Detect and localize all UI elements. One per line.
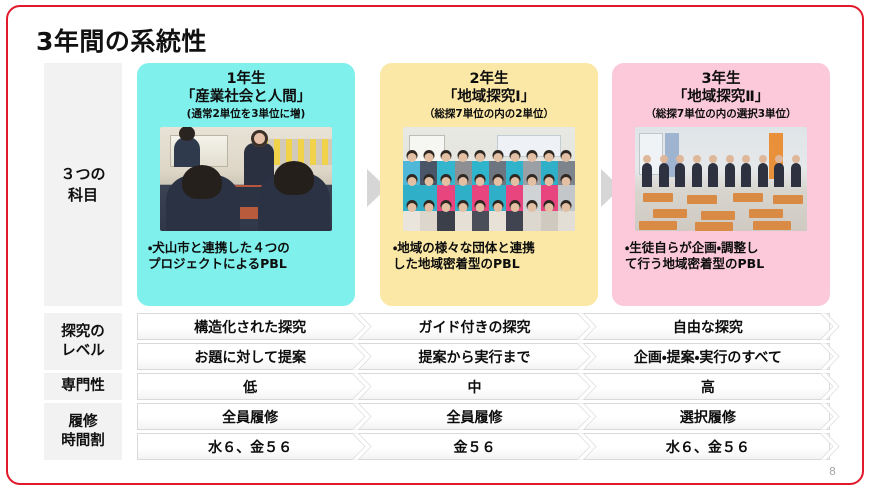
subject-panel-grade3[interactable]: 3年生 「地域探究Ⅱ」 （総探7単位の内の選択3単位） bbox=[612, 63, 830, 306]
page-number: 8 bbox=[829, 465, 836, 478]
panel-description-line2: プロジェクトによるPBL bbox=[148, 256, 345, 273]
panel-description-grade1: ・犬山市と連携した４つの プロジェクトによるPBL bbox=[137, 231, 355, 274]
panel-description-line2: した地域密着型のPBL bbox=[393, 256, 588, 273]
chevron-cell-grade3[interactable]: 選択履修 bbox=[587, 404, 829, 429]
row-label-subjects-line2: 科目 bbox=[60, 185, 105, 205]
table-row-schedule: 履修 時間割 全員履修 全員履修 選択履修 水６、金５６ 金５６ 水６、金５６ bbox=[44, 403, 830, 460]
panel-header-grade3: 3年生 「地域探究Ⅱ」 （総探7単位の内の選択3単位） bbox=[612, 63, 830, 122]
row-label-specialty-text: 専門性 bbox=[61, 377, 105, 396]
panel-course-label: 「産業社会と人間」 bbox=[137, 88, 355, 107]
row-label-subjects: ３つの 科目 bbox=[44, 63, 122, 306]
panel-credits-label: (通常2単位を3単位に増) bbox=[137, 108, 355, 122]
panel-description-line2: て行う地域密着型のPBL bbox=[625, 256, 820, 273]
chevron-cell-grade2[interactable]: ガイド付きの探究 bbox=[362, 314, 586, 339]
row-label-subjects-line1: ３つの bbox=[60, 164, 105, 184]
chevron-cell-grade3[interactable]: 自由な探究 bbox=[587, 314, 829, 339]
panel-description-line1: ・生徒自らが企画・調整し bbox=[625, 240, 820, 257]
chevron-divider-icon bbox=[820, 313, 840, 340]
page-title: 3年間の系統性 bbox=[36, 22, 207, 58]
chevron-divider-icon bbox=[820, 403, 840, 430]
chevron-divider-icon bbox=[820, 373, 840, 400]
panel-grade-label: 2年生 bbox=[380, 70, 598, 88]
panel-description-line1: ・地域の様々な団体と連携 bbox=[393, 240, 588, 257]
chevron-cell-grade2[interactable]: 提案から実行まで bbox=[362, 344, 586, 369]
panel-photo-grade2 bbox=[403, 127, 575, 231]
panel-course-label: 「地域探究Ⅰ」 bbox=[380, 88, 598, 107]
chevron-cell-grade1[interactable]: 全員履修 bbox=[138, 404, 362, 429]
panel-photo-grade3 bbox=[635, 127, 807, 231]
row-label-inquiry-level: 探究の レベル bbox=[44, 313, 122, 370]
row-label-specialty: 専門性 bbox=[44, 373, 122, 400]
panel-header-grade2: 2年生 「地域探究Ⅰ」 （総探7単位の内の2単位） bbox=[380, 63, 598, 122]
chevron-divider-icon bbox=[820, 343, 840, 370]
row-label-schedule-line1: 履修 bbox=[61, 413, 105, 432]
table-row-specialty: 専門性 低 中 高 bbox=[44, 373, 830, 400]
chevron-cell-grade1[interactable]: お題に対して提案 bbox=[138, 344, 362, 369]
chevron-cell-grade2[interactable]: 全員履修 bbox=[362, 404, 586, 429]
row-label-schedule-line2: 時間割 bbox=[61, 432, 105, 451]
chevron-line: 構造化された探究 ガイド付きの探究 自由な探究 bbox=[137, 313, 830, 340]
row-label-schedule: 履修 時間割 bbox=[44, 403, 122, 460]
subject-panel-grade2[interactable]: 2年生 「地域探究Ⅰ」 （総探7単位の内の2単位） bbox=[380, 63, 598, 306]
chevron-cell-grade2[interactable]: 中 bbox=[362, 374, 586, 399]
row-label-inquiry-level-line1: 探究の bbox=[61, 323, 105, 342]
panel-header-grade1: 1年生 「産業社会と人間」 (通常2単位を3単位に増) bbox=[137, 63, 355, 122]
chevron-line: 水６、金５６ 金５６ 水６、金５６ bbox=[137, 433, 830, 460]
chevron-cell-grade1[interactable]: 構造化された探究 bbox=[138, 314, 362, 339]
chevron-cell-grade3[interactable]: 高 bbox=[587, 374, 829, 399]
subject-panel-grade1[interactable]: 1年生 「産業社会と人間」 (通常2単位を3単位に増) ・犬山市と連携した４つの… bbox=[137, 63, 355, 306]
chevron-line: お題に対して提案 提案から実行まで 企画・提案・実行のすべて bbox=[137, 343, 830, 370]
chevron-cell-grade1[interactable]: 低 bbox=[138, 374, 362, 399]
panel-photo-grade1 bbox=[160, 127, 332, 231]
chevron-cell-grade3[interactable]: 企画・提案・実行のすべて bbox=[587, 344, 829, 369]
chevron-cell-grade1[interactable]: 水６、金５６ bbox=[138, 434, 362, 459]
slide: 3年間の系統性 ３つの 科目 1年生 「産業社会と人間」 (通常2単位を3単位に… bbox=[0, 0, 871, 491]
subjects-section: ３つの 科目 1年生 「産業社会と人間」 (通常2単位を3単位に増) bbox=[44, 63, 830, 306]
panel-course-label: 「地域探究Ⅱ」 bbox=[612, 88, 830, 107]
chevron-line: 全員履修 全員履修 選択履修 bbox=[137, 403, 830, 430]
panel-description-grade3: ・生徒自らが企画・調整し て行う地域密着型のPBL bbox=[612, 231, 830, 274]
panel-credits-label: （総探7単位の内の2単位） bbox=[380, 108, 598, 122]
chevron-cell-grade3[interactable]: 水６、金５６ bbox=[587, 434, 829, 459]
chevron-cell-grade2[interactable]: 金５６ bbox=[362, 434, 586, 459]
comparison-table: 探究の レベル 構造化された探究 ガイド付きの探究 自由な探究 お題に対して提案… bbox=[44, 313, 830, 463]
panel-grade-label: 1年生 bbox=[137, 70, 355, 88]
table-row-inquiry-level: 探究の レベル 構造化された探究 ガイド付きの探究 自由な探究 お題に対して提案… bbox=[44, 313, 830, 370]
panel-credits-label: （総探7単位の内の選択3単位） bbox=[612, 108, 830, 122]
panel-grade-label: 3年生 bbox=[612, 70, 830, 88]
chevron-divider-icon bbox=[820, 433, 840, 460]
row-label-inquiry-level-line2: レベル bbox=[61, 342, 105, 361]
chevron-line: 低 中 高 bbox=[137, 373, 830, 400]
panel-description-grade2: ・地域の様々な団体と連携 した地域密着型のPBL bbox=[380, 231, 598, 274]
panel-description-line1: ・犬山市と連携した４つの bbox=[148, 240, 345, 257]
